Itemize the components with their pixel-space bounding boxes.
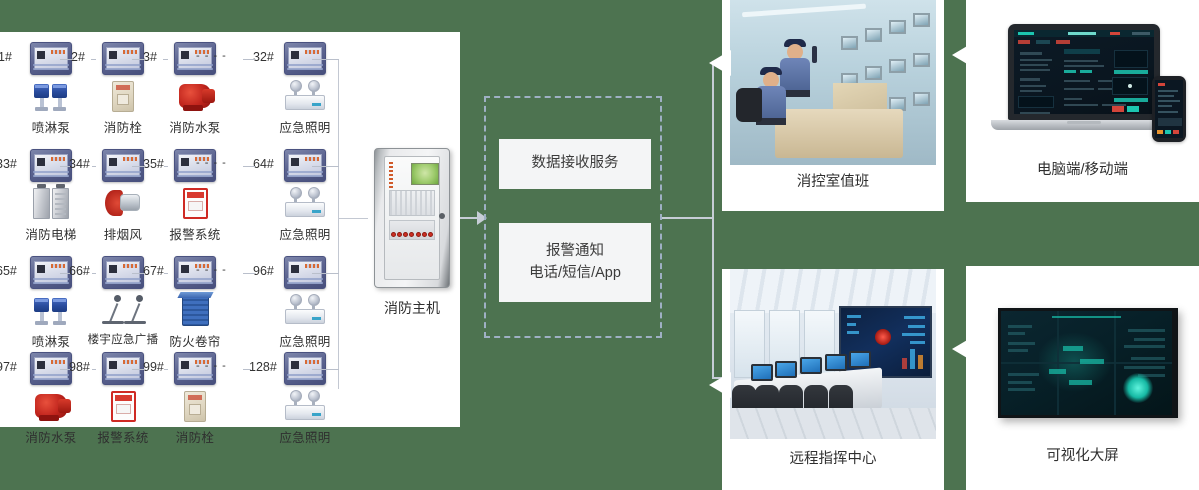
emergency-lighting-icon xyxy=(277,80,333,114)
sprinkler-pump-icon xyxy=(23,80,79,114)
device-label: 排烟风 xyxy=(86,224,160,243)
office-chair xyxy=(736,88,762,122)
laptop-base xyxy=(991,120,1177,130)
callout-notch xyxy=(952,336,974,362)
diagram-canvas: 1# 喷淋泵 2# 消防栓 3# xyxy=(0,0,1199,490)
device-label: 消防栓 xyxy=(86,117,160,136)
fire-control-room-duty-photo xyxy=(730,0,936,165)
link-line xyxy=(132,369,145,370)
fire-shutter-icon xyxy=(167,294,223,328)
link-line-to-bus xyxy=(312,273,339,274)
link-line xyxy=(243,369,251,370)
device-label: 消防栓 xyxy=(158,427,232,446)
sprinkler-pump-icon xyxy=(23,294,79,328)
alarm-notification-card[interactable]: 报警通知 电话/短信/App xyxy=(499,223,651,302)
alarm-notification-title: 报警通知 xyxy=(529,241,621,263)
card-visualization-screen[interactable]: 可视化大屏 xyxy=(966,266,1199,490)
fire-water-pump-icon xyxy=(23,390,79,424)
device-label: 消防水泵 xyxy=(158,117,232,136)
fire-hydrant-icon xyxy=(95,80,151,114)
ellipsis-label: - - - - xyxy=(196,264,227,276)
link-line xyxy=(243,59,255,60)
alarm-notification-channels: 电话/短信/App xyxy=(529,263,621,285)
fire-host-label: 消防主机 xyxy=(358,298,466,318)
device-label: 消防水泵 xyxy=(14,427,88,446)
device-row: 97# 消防水泵 98# 报警系统 99# 消防栓 - - - - xyxy=(0,352,340,457)
device-label: 应急照明 xyxy=(268,117,342,136)
link-line-to-bus xyxy=(312,59,339,60)
phone-app-screen xyxy=(1155,80,1183,138)
callout-notch xyxy=(709,50,731,76)
node-id: 1# xyxy=(0,50,12,64)
link-line xyxy=(132,59,145,60)
alarm-system-icon xyxy=(167,187,223,221)
node-id: 2# xyxy=(71,50,85,64)
emergency-lighting-icon xyxy=(277,390,333,424)
device-label: 应急照明 xyxy=(268,331,342,350)
emergency-lighting-icon xyxy=(277,187,333,221)
device-label: 报警系统 xyxy=(158,224,232,243)
device-label: 应急照明 xyxy=(268,427,342,446)
panel-knob-icon xyxy=(439,213,445,219)
device-label: 消防电梯 xyxy=(14,224,88,243)
cloud-service-group: 数据接收服务 报警通知 电话/短信/App xyxy=(484,96,662,338)
device-cell[interactable]: 应急照明 xyxy=(268,256,342,361)
card-caption: 远程指挥中心 xyxy=(722,447,944,468)
callout-notch xyxy=(952,42,974,68)
fork-vertical-line xyxy=(712,61,714,379)
smoke-exhaust-fan-icon xyxy=(95,187,151,221)
device-row: 1# 喷淋泵 2# 消防栓 3# xyxy=(0,42,340,147)
service-out-line xyxy=(662,217,714,219)
link-line xyxy=(60,369,70,370)
ellipsis-label: - - - - xyxy=(196,50,227,62)
device-cell[interactable]: 应急照明 xyxy=(268,42,342,147)
visualization-video-wall-illustration xyxy=(998,308,1178,418)
card-caption: 电脑端/移动端 xyxy=(966,158,1199,179)
smartphone-icon xyxy=(1152,76,1186,142)
laptop-dashboard-screen xyxy=(1014,30,1154,114)
device-cell[interactable]: 应急照明 xyxy=(268,149,342,254)
link-line xyxy=(132,273,145,274)
laptop-icon xyxy=(1008,24,1160,120)
device-row: 65# 喷淋泵 66# 楼宇应急广播 67 xyxy=(0,256,340,361)
fire-elevator-icon xyxy=(23,187,79,221)
walkie-talkie-icon xyxy=(812,46,817,63)
device-label: 楼宇应急广播 xyxy=(86,331,160,347)
device-label: 喷淋泵 xyxy=(14,331,88,350)
data-receiving-service-card[interactable]: 数据接收服务 xyxy=(499,139,651,189)
link-line xyxy=(243,273,255,274)
link-line-to-bus xyxy=(312,166,339,167)
device-cell[interactable]: 应急照明 xyxy=(268,352,342,457)
emergency-lighting-icon xyxy=(277,294,333,328)
fire-hydrant-icon xyxy=(167,390,223,424)
card-remote-command-center[interactable]: 远程指挥中心 xyxy=(722,269,944,490)
host-to-service-line xyxy=(460,217,478,219)
ellipsis-label: - - - - xyxy=(196,360,227,372)
fire-alarm-control-panel-icon xyxy=(374,148,450,288)
ellipsis-label: - - - - xyxy=(196,157,227,169)
link-line xyxy=(60,273,70,274)
fire-host-group[interactable]: 消防主机 xyxy=(358,148,466,318)
card-caption: 消控室值班 xyxy=(722,170,944,191)
emergency-broadcast-icon xyxy=(95,294,151,328)
device-label: 应急照明 xyxy=(268,224,342,243)
fire-water-pump-icon xyxy=(167,80,223,114)
alarm-system-icon xyxy=(95,390,151,424)
card-fire-control-room[interactable]: 消控室值班 xyxy=(722,0,944,211)
device-label: 报警系统 xyxy=(86,427,160,446)
node-id: 3# xyxy=(143,50,157,64)
link-line xyxy=(243,166,255,167)
callout-notch xyxy=(709,372,731,398)
link-line xyxy=(60,166,70,167)
remote-command-center-photo xyxy=(730,269,936,439)
device-row: 33# 消防电梯 34# 排烟风 35# xyxy=(0,149,340,254)
link-line-to-bus xyxy=(312,369,339,370)
link-line xyxy=(60,59,73,60)
card-pc-mobile[interactable]: 电脑端/移动端 xyxy=(966,0,1199,202)
card-caption: 可视化大屏 xyxy=(966,444,1199,465)
device-label: 防火卷帘 xyxy=(158,331,232,350)
data-receiving-service-label: 数据接收服务 xyxy=(532,153,619,175)
link-line xyxy=(132,166,145,167)
device-label: 喷淋泵 xyxy=(14,117,88,136)
